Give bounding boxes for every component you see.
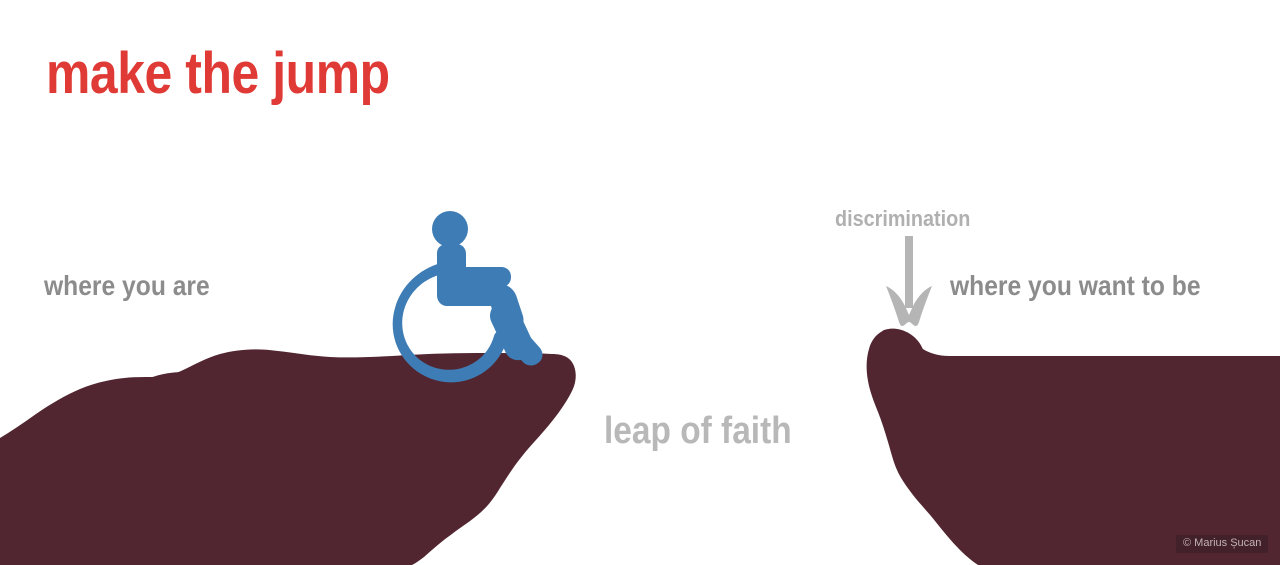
- left-cliff-edge-detail: [150, 372, 200, 382]
- page-title: make the jump: [46, 45, 390, 103]
- poster-canvas: make the jump where you are where you wa…: [0, 0, 1280, 565]
- arrow-down-icon: [886, 236, 932, 326]
- label-where-you-are: where you are: [44, 272, 210, 300]
- right-cliff-shape: [867, 329, 1280, 565]
- copyright-credit: © Marius Șucan: [1176, 535, 1268, 553]
- label-leap-of-faith: leap of faith: [604, 412, 792, 450]
- label-where-you-want-to-be: where you want to be: [950, 272, 1201, 300]
- left-cliff-shape: [0, 349, 576, 565]
- label-discrimination: discrimination: [835, 208, 970, 230]
